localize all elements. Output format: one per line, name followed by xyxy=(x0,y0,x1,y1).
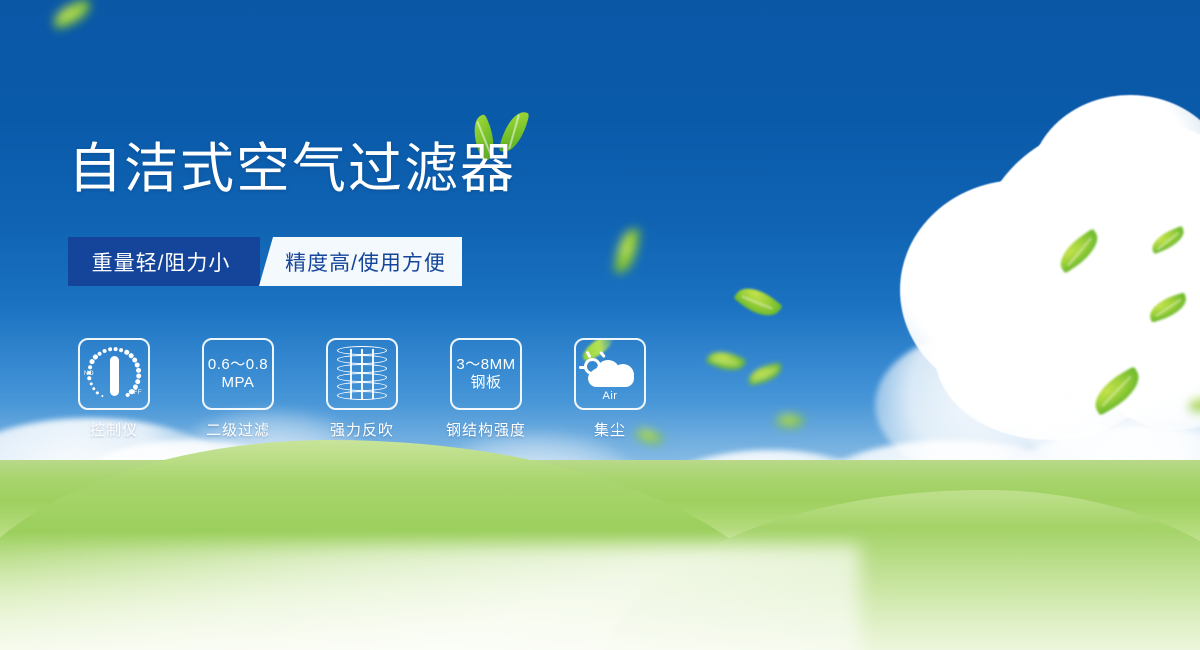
cloud-icon xyxy=(875,330,1105,480)
pressure-value: 0.6～0.8 xyxy=(208,356,268,374)
feature-label: 强力反吹 xyxy=(330,419,394,440)
cloud-icon xyxy=(1105,160,1200,310)
steel-material: 钢板 xyxy=(470,374,501,392)
pressure-unit: MPA xyxy=(222,374,255,392)
cloud-icon xyxy=(640,450,900,570)
grass-hill xyxy=(600,490,1200,650)
air-cloud-icon: Air xyxy=(582,350,638,398)
feature-label: 集尘 xyxy=(594,419,626,440)
feature-icon-box: Air xyxy=(574,338,646,410)
cloud-band xyxy=(0,470,1200,560)
cloud-icon xyxy=(800,440,1100,570)
subtitle-right-panel: 精度高/使用方便 xyxy=(259,237,462,286)
air-label: Air xyxy=(582,390,638,402)
leaf-icon xyxy=(50,0,94,30)
feature-icon-box xyxy=(326,338,398,410)
cloud-icon xyxy=(1030,95,1200,270)
feature-item-two-stage-filter[interactable]: 0.6～0.8 MPA 二级过滤 xyxy=(202,338,274,440)
leaf-icon xyxy=(1146,292,1190,322)
feature-label: 控制仪 xyxy=(90,419,138,440)
cloud-icon xyxy=(900,180,1140,400)
feature-item-steel-strength[interactable]: 3～8MM 钢板 钢结构强度 xyxy=(450,338,522,440)
leaf-icon xyxy=(1189,396,1200,415)
cloud-icon xyxy=(520,478,720,570)
grass-field-icon xyxy=(0,460,1200,650)
hero-banner: 自洁式空气过滤器 重量轻/阻力小 精度高/使用方便 xyxy=(0,0,1200,650)
gauge-icon: NO OFF xyxy=(83,343,145,405)
green-swoosh-icon xyxy=(579,338,618,363)
leaf-icon xyxy=(733,279,782,325)
feature-item-dust-collection[interactable]: Air 集尘 xyxy=(574,338,646,440)
cloud-icon xyxy=(1080,230,1200,430)
page-title: 自洁式空气过滤器 xyxy=(68,142,516,196)
cloud-icon xyxy=(360,470,590,570)
leaf-icon xyxy=(614,227,640,275)
cloud-icon xyxy=(1000,425,1200,565)
feature-label: 钢结构强度 xyxy=(446,419,526,440)
filter-disc-stack-icon xyxy=(337,346,387,402)
gauge-needle xyxy=(110,356,119,396)
cloud-icon xyxy=(980,120,1200,370)
leaf-icon xyxy=(747,363,784,386)
feature-icon-box: 3～8MM 钢板 xyxy=(450,338,522,410)
feature-item-controller[interactable]: NO OFF 控制仪 xyxy=(78,338,150,440)
subtitle-left-panel: 重量轻/阻力小 xyxy=(68,237,260,286)
grass-path xyxy=(0,545,860,650)
cloud-icon xyxy=(1020,330,1200,490)
cloud-icon xyxy=(935,270,1165,440)
leaf-icon xyxy=(1053,228,1105,273)
subtitle-bar: 重量轻/阻力小 精度高/使用方便 xyxy=(68,237,462,286)
leaf-icon xyxy=(775,410,804,431)
cloud-icon xyxy=(430,432,640,542)
cloud-icon xyxy=(240,455,470,565)
steel-thickness: 3～8MM xyxy=(456,356,515,374)
feature-item-backblow[interactable]: 强力反吹 xyxy=(326,338,398,440)
leaf-icon xyxy=(1087,366,1147,416)
leaf-icon xyxy=(1148,226,1187,254)
feature-icon-box: NO OFF xyxy=(78,338,150,410)
feature-icon-box: 0.6～0.8 MPA xyxy=(202,338,274,410)
leaf-icon xyxy=(706,345,746,376)
gauge-label-off: OFF xyxy=(129,390,143,396)
cloud-icon xyxy=(60,440,320,555)
gauge-label-no: NO xyxy=(84,371,94,377)
grass-hill xyxy=(0,440,800,650)
feature-list: NO OFF 控制仪 0.6～0.8 MPA 二级过滤 xyxy=(78,338,646,440)
grass-sheen xyxy=(0,530,1200,650)
feature-label: 二级过滤 xyxy=(206,419,270,440)
